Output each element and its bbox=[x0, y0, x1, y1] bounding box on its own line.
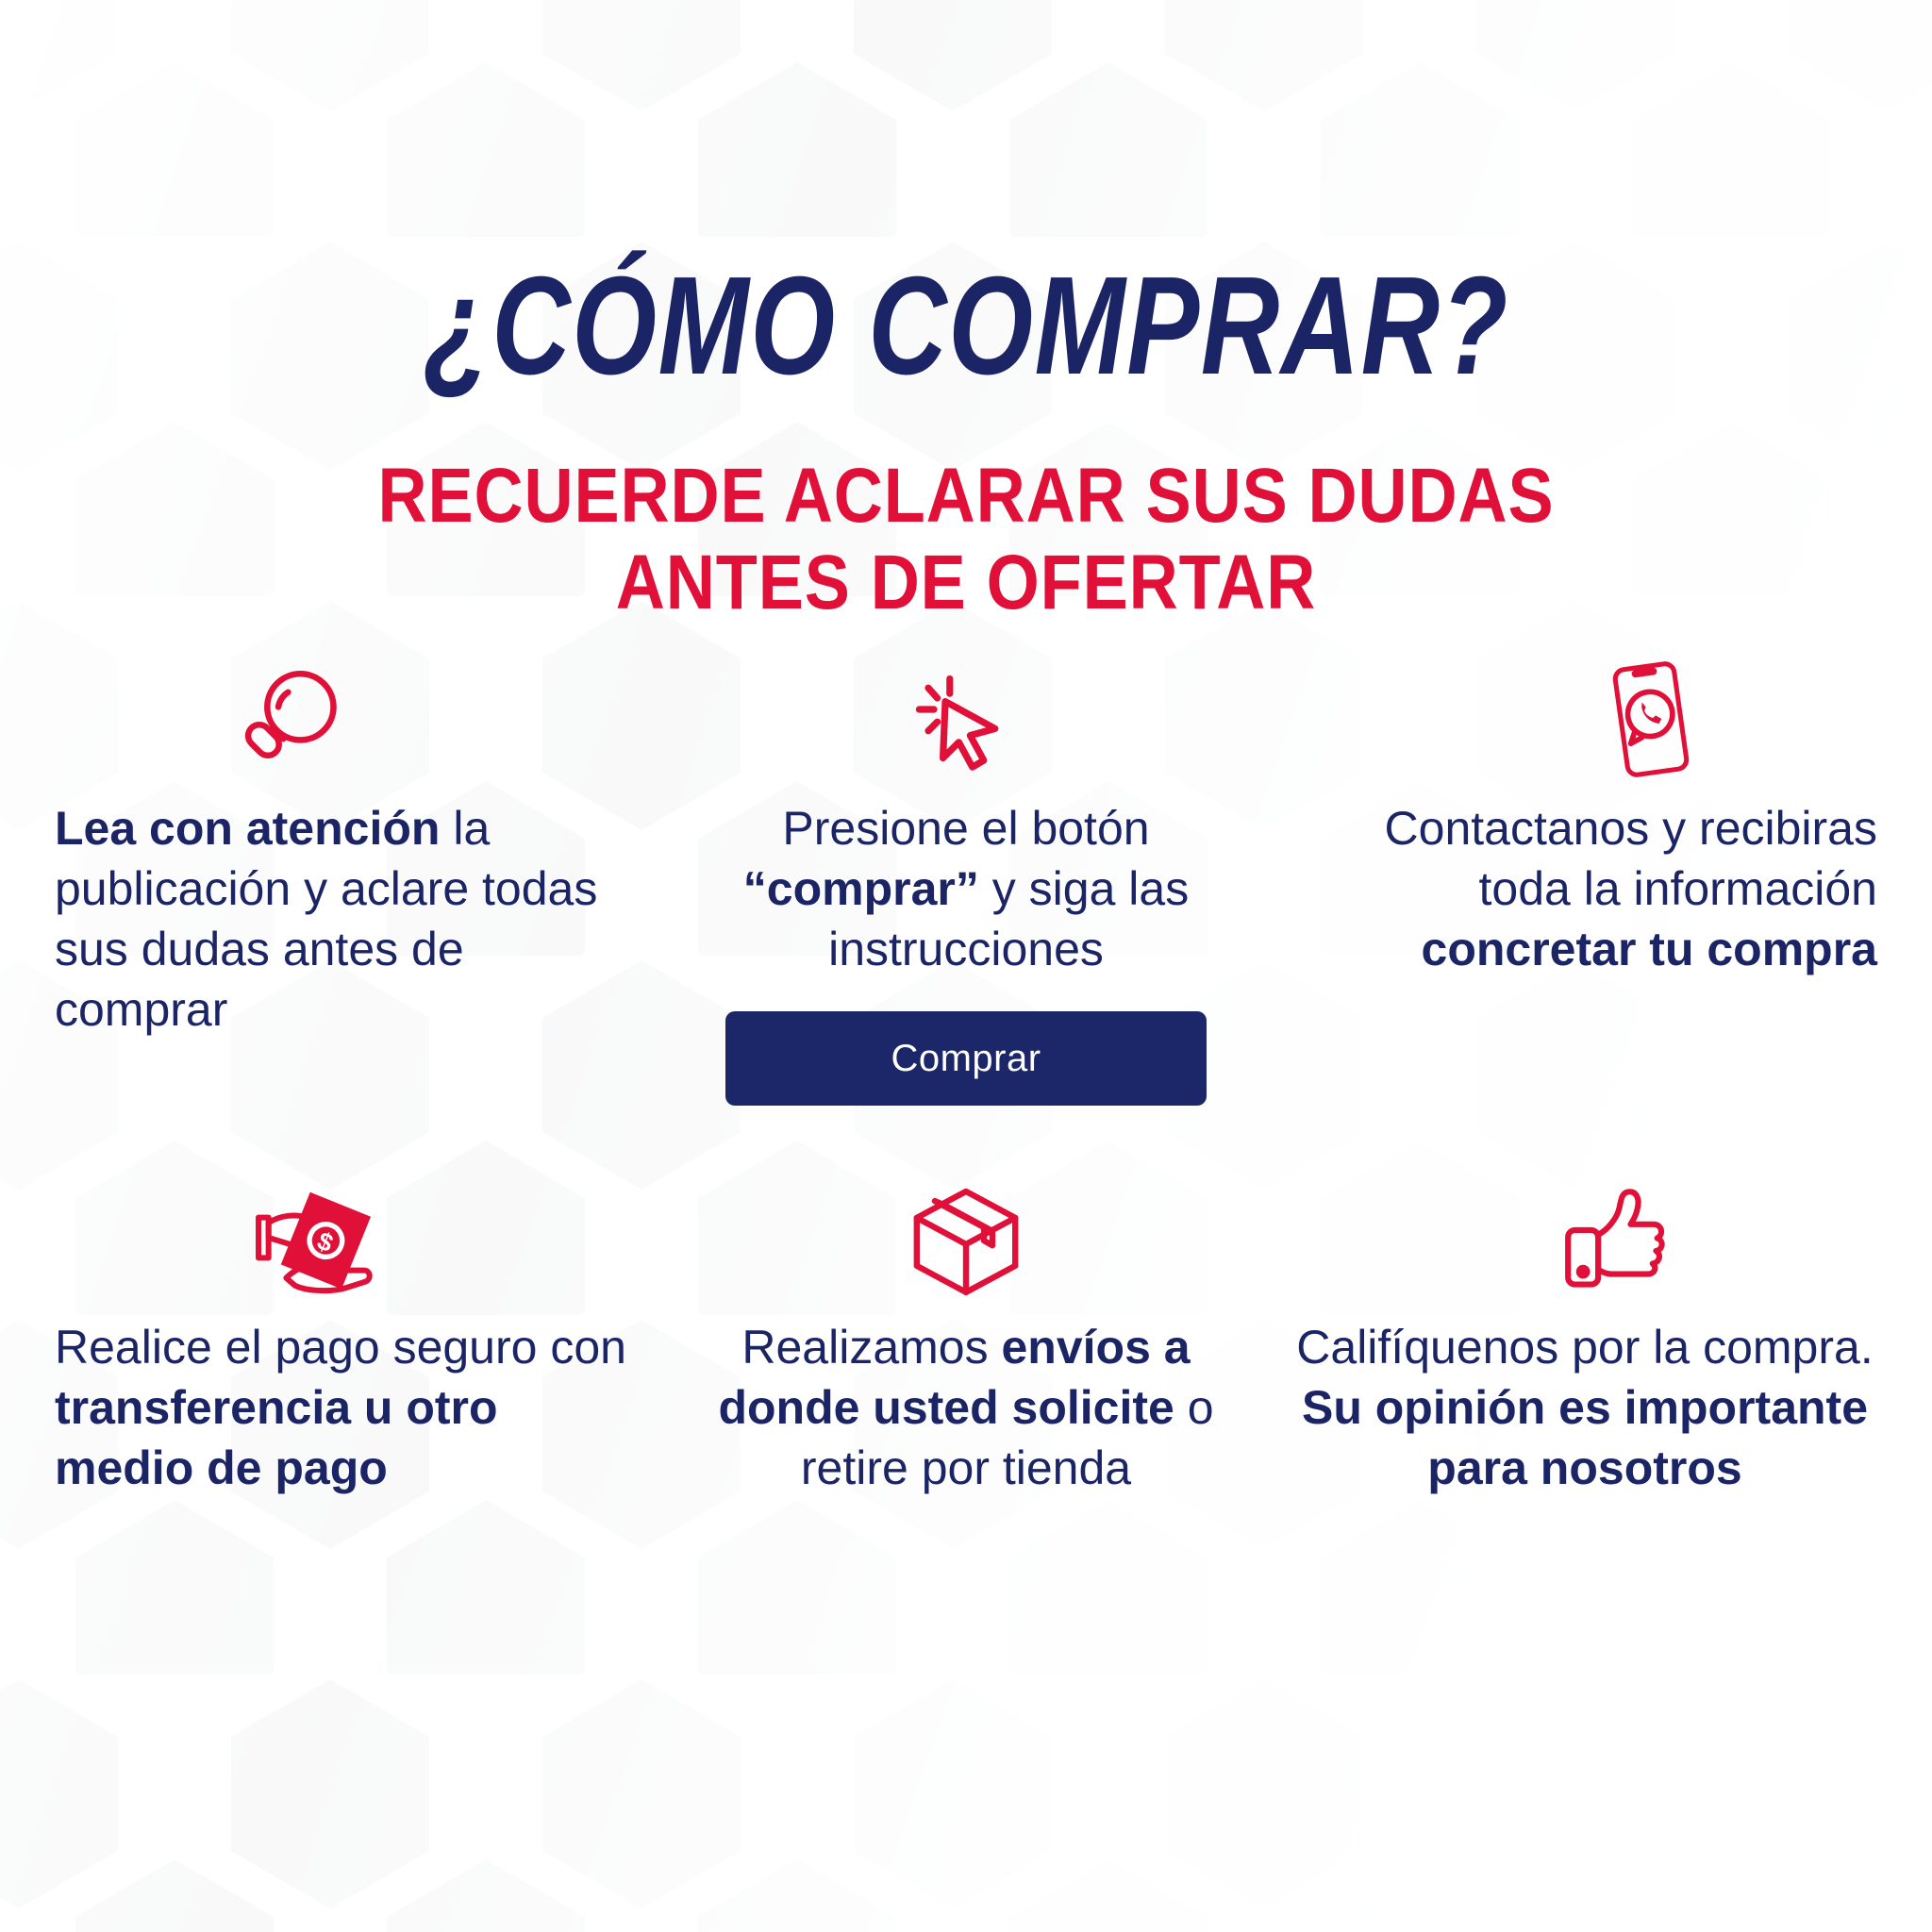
money-hands-icon: $ bbox=[243, 1170, 394, 1302]
step-card-shipping: Realizamos envíos a donde usted solicite… bbox=[657, 1132, 1275, 1498]
step-card-contact-us: Contactanos y recibiras toda la informac… bbox=[1275, 651, 1894, 1106]
step-card-rate-us: Califíquenos por la compra. Su opinión e… bbox=[1275, 1132, 1894, 1498]
icon-container bbox=[1292, 651, 1877, 783]
step-card-text: Califíquenos por la compra. Su opinión e… bbox=[1292, 1317, 1877, 1498]
click-cursor-icon bbox=[900, 670, 1013, 783]
icon-container bbox=[1292, 1160, 1877, 1302]
icon-container bbox=[55, 651, 640, 783]
package-box-icon bbox=[900, 1170, 1032, 1302]
thumbs-up-icon bbox=[1552, 1174, 1679, 1302]
step-card-text: Realizamos envíos a donde usted solicite… bbox=[674, 1317, 1258, 1498]
buy-button-row: Comprar bbox=[674, 1011, 1258, 1106]
whatsapp-phone-icon bbox=[1594, 656, 1707, 783]
step-card-press-buy: Presione el botón “comprar” y siga las i… bbox=[657, 651, 1275, 1106]
steps-grid-row-2: $ Realice el pago seguro con transferenc… bbox=[38, 1132, 1894, 1526]
step-card-text: Presione el botón “comprar” y siga las i… bbox=[674, 798, 1258, 979]
page-title-wrap: ¿CÓMO COMPRAR? bbox=[0, 257, 1932, 396]
icon-container: $ bbox=[55, 1160, 640, 1302]
step-card-secure-payment: $ Realice el pago seguro con transferenc… bbox=[38, 1132, 657, 1498]
subtitle-line-2: ANTES DE OFERTAR bbox=[116, 540, 1816, 626]
step-card-read-listing: Lea con atención la publicación y aclare… bbox=[38, 651, 657, 1106]
magnifier-icon bbox=[229, 660, 352, 783]
page-subtitle: RECUERDE ACLARAR SUS DUDAS ANTES DE OFER… bbox=[116, 453, 1816, 626]
icon-container bbox=[674, 1160, 1258, 1302]
step-card-text: Realice el pago seguro con transferencia… bbox=[55, 1317, 640, 1498]
icon-container bbox=[674, 651, 1258, 783]
subtitle-line-1: RECUERDE ACLARAR SUS DUDAS bbox=[377, 453, 1554, 539]
step-card-text: Contactanos y recibiras toda la informac… bbox=[1292, 798, 1877, 979]
page-title: ¿CÓMO COMPRAR? bbox=[424, 257, 1508, 396]
steps-grid: Lea con atención la publicación y aclare… bbox=[38, 651, 1894, 1134]
step-card-text: Lea con atención la publicación y aclare… bbox=[55, 798, 640, 1040]
comprar-button[interactable]: Comprar bbox=[725, 1011, 1207, 1106]
